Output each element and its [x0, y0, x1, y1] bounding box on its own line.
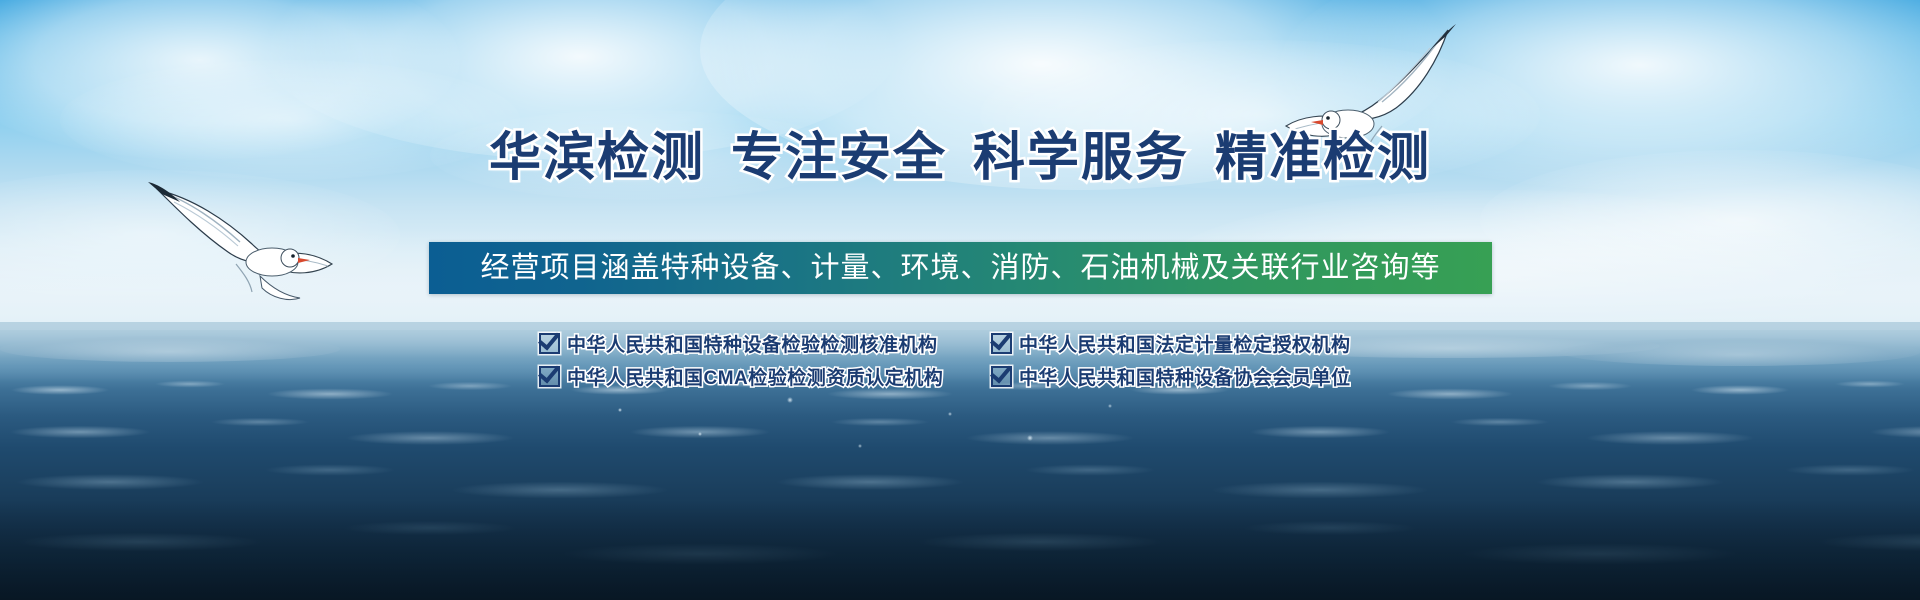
checkbox-checked-icon [539, 366, 560, 387]
credential-item: 中华人民共和国特种设备检验检测核准机构 [529, 330, 969, 357]
checkbox-checked-icon [991, 333, 1012, 354]
scope-bar: 经营项目涵盖特种设备、计量、环境、消防、石油机械及关联行业咨询等 [429, 242, 1492, 294]
headline-segment-2: 专注安全 [731, 128, 947, 188]
headline-segment-4: 精准检测 [1215, 128, 1431, 188]
credential-item: 中华人民共和国法定计量检定授权机构 [969, 330, 1391, 357]
credential-item: 中华人民共和国CMA检验检测资质认定机构 [529, 363, 969, 390]
hero-banner: 华滨检测专注安全科学服务精准检测 经营项目涵盖特种设备、计量、环境、消防、石油机… [0, 0, 1920, 600]
headline: 华滨检测专注安全科学服务精准检测 [0, 128, 1920, 188]
credential-item: 中华人民共和国特种设备协会会员单位 [969, 363, 1391, 390]
headline-segment-3: 科学服务 [973, 128, 1189, 188]
credential-label: 中华人民共和国特种设备协会会员单位 [1019, 363, 1351, 390]
checkbox-checked-icon [539, 333, 560, 354]
credential-label: 中华人民共和国CMA检验检测资质认定机构 [567, 363, 943, 390]
headline-segment-1: 华滨检测 [489, 128, 705, 188]
credential-label: 中华人民共和国法定计量检定授权机构 [1019, 330, 1351, 357]
credentials-list: 中华人民共和国特种设备检验检测核准机构 中华人民共和国法定计量检定授权机构 中华… [0, 330, 1920, 390]
checkbox-checked-icon [991, 366, 1012, 387]
credentials-row: 中华人民共和国CMA检验检测资质认定机构 中华人民共和国特种设备协会会员单位 [529, 363, 1391, 390]
credentials-row: 中华人民共和国特种设备检验检测核准机构 中华人民共和国法定计量检定授权机构 [529, 330, 1391, 357]
banner-content: 华滨检测专注安全科学服务精准检测 经营项目涵盖特种设备、计量、环境、消防、石油机… [0, 0, 1920, 600]
scope-bar-text: 经营项目涵盖特种设备、计量、环境、消防、石油机械及关联行业咨询等 [480, 242, 1440, 294]
credential-label: 中华人民共和国特种设备检验检测核准机构 [567, 330, 938, 357]
